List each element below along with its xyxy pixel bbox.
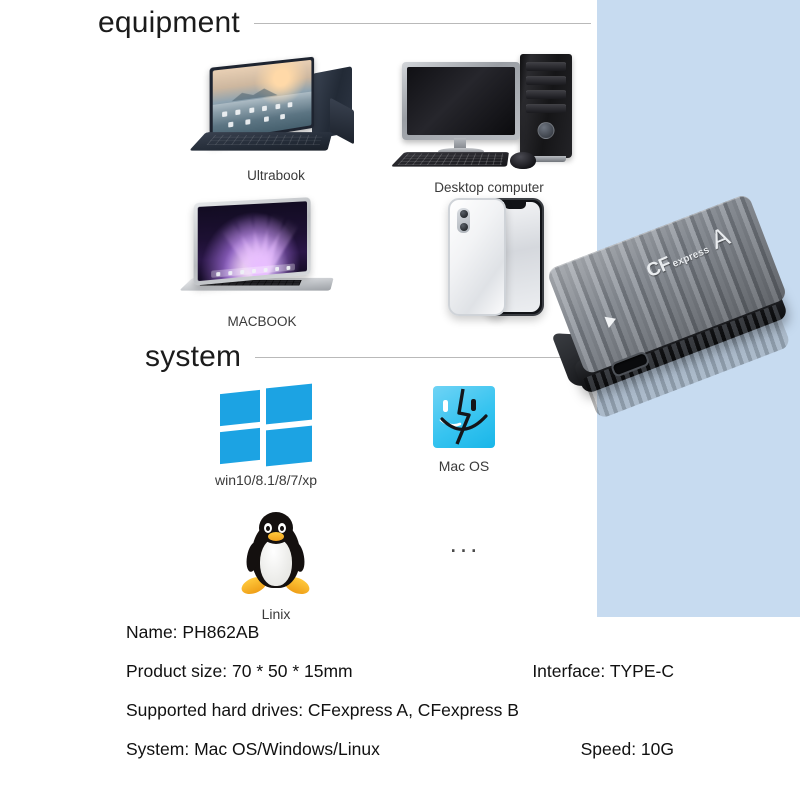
desktop-mouse — [510, 152, 536, 169]
section-heading-system: system — [145, 340, 585, 374]
monitor-screen — [407, 67, 515, 135]
specifications-block: Name: PH862AB Product size: 70 * 50 * 15… — [126, 622, 766, 778]
spec-row-size-interface: Product size: 70 * 50 * 15mm Interface: … — [126, 661, 766, 682]
tower-brand-badge-icon — [538, 122, 555, 139]
device-macbook: MACBOOK — [186, 198, 338, 329]
macbook-screen — [198, 201, 307, 281]
penguin-belly — [260, 538, 292, 586]
spec-interface: Interface: TYPE-C — [532, 661, 766, 682]
macbook-caption: MACBOOK — [186, 314, 338, 329]
linux-caption: Linix — [216, 606, 336, 622]
ellipsis-icon: ... — [430, 530, 500, 556]
product-info-sheet: equipment Ultrabook — [0, 0, 800, 800]
spec-speed: Speed: 10G — [581, 739, 766, 760]
desktop-tower — [520, 54, 572, 158]
spec-system: System: Mac OS/Windows/Linux — [126, 739, 380, 760]
card-reader-enclosure: CF express A — [509, 152, 800, 453]
desktop-illustration — [398, 48, 580, 176]
spec-name: Name: PH862AB — [126, 622, 766, 643]
os-windows: win10/8.1/8/7/xp — [196, 386, 336, 488]
smartphone-illustration — [440, 192, 552, 324]
macbook-lid — [194, 197, 311, 285]
spec-row-name: Name: PH862AB — [126, 622, 766, 643]
smartphone-back-view — [448, 198, 506, 316]
linux-penguin-icon — [242, 512, 310, 596]
equipment-heading-rule — [254, 23, 591, 24]
ultrabook-illustration — [196, 52, 356, 164]
penguin-eye — [264, 523, 272, 533]
spec-product-size: Product size: 70 * 50 * 15mm — [126, 661, 353, 682]
os-macos: Mac OS — [404, 386, 524, 474]
windows-logo-icon — [220, 386, 312, 462]
smartphone-camera-module-icon — [457, 208, 470, 233]
smartphone-notch — [504, 202, 526, 209]
section-heading-equipment: equipment — [98, 6, 591, 40]
os-linux: Linix — [216, 512, 336, 622]
tower-drive-bay — [526, 76, 566, 85]
device-smartphone — [440, 192, 552, 324]
desktop-monitor — [402, 62, 520, 140]
os-more-indicator: ... — [430, 530, 500, 556]
equipment-heading-text: equipment — [98, 6, 240, 40]
desktop-keyboard — [391, 152, 509, 167]
tower-drive-bay — [526, 90, 566, 99]
spec-row-system-speed: System: Mac OS/Windows/Linux Speed: 10G — [126, 739, 766, 760]
system-heading-rule — [255, 357, 585, 358]
ultrabook-keyboard — [189, 132, 332, 151]
spec-row-supported-drives: Supported hard drives: CFexpress A, CFex… — [126, 700, 766, 721]
device-desktop-computer: Desktop computer — [398, 48, 580, 195]
spec-supported-drives: Supported hard drives: CFexpress A, CFex… — [126, 700, 766, 721]
finder-face-icon — [433, 386, 495, 448]
penguin-beak — [268, 532, 284, 541]
ultrabook-caption: Ultrabook — [196, 168, 356, 183]
system-heading-text: system — [145, 340, 241, 374]
windows-caption: win10/8.1/8/7/xp — [196, 472, 336, 488]
tower-optical-drive — [526, 104, 566, 113]
device-ultrabook: Ultrabook — [196, 52, 356, 183]
macbook-illustration — [186, 198, 338, 310]
product-device-photo: CF express A — [540, 192, 800, 414]
macos-caption: Mac OS — [404, 458, 524, 474]
ultrabook-keys — [207, 135, 323, 145]
tower-drive-bay — [526, 62, 566, 71]
